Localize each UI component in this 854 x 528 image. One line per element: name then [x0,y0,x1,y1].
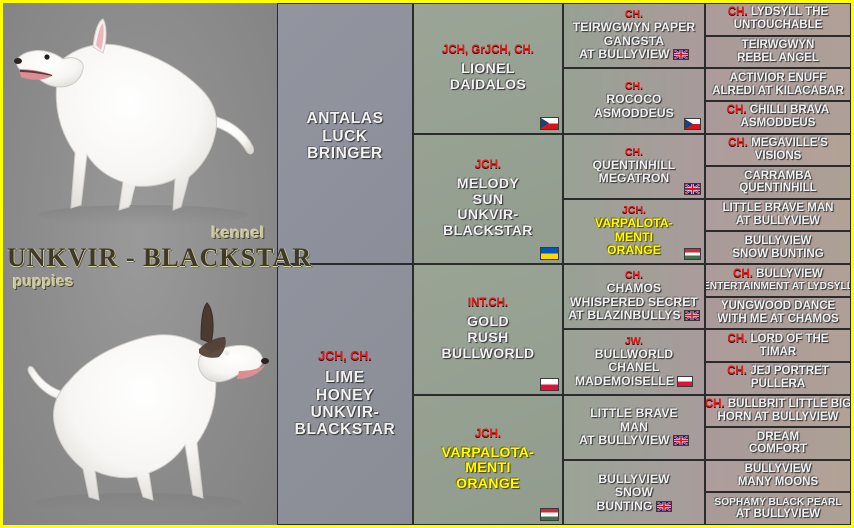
dog-name: LITTLE BRAVE MAN AT BULLYVIEW [723,202,834,228]
flag-gb-icon [684,183,701,195]
dog-name: VARPALOTA- MENTI ORANGE [442,445,535,492]
pedigree-cell-g4-6[interactable]: CARRAMBA QUENTINHILL [705,166,851,199]
flag-gb-icon [656,501,672,512]
dog-name: ANTALAS LUCK BRINGER [306,110,383,162]
pedigree-cell-g3-8[interactable]: BULLYVIEW SNOW BUNTING [563,460,705,525]
generation-2-column: JCH, GrJCH, CH. LIONEL DAIDALOS JCH. MEL… [413,3,563,525]
dog-name: CH. JEJ PORTRET PULLERA [727,365,829,391]
pedigree-cell-g4-9[interactable]: CH. BULLYVIEW ENTERTAINMENT AT LYDSYLL [705,264,851,297]
pedigree-cell-g3-1[interactable]: CH. TEIRWGWYN PAPER GANGSTA AT BULLYVIEW [563,3,705,68]
pedigree-cell-g3-5[interactable]: CH. CHAMOS WHISPERED SECRET AT BLAZINBUL… [563,264,705,329]
titles: INT.CH. [468,297,508,309]
dog-name: TEIRWGWYN PAPER GANGSTA AT BULLYVIEW [573,21,696,61]
pedigree-cell-g2-3[interactable]: INT.CH. GOLD RUSH BULLWORLD [413,264,563,395]
generation-4-column: CH. LYDSYLL THE UNTOUCHABLE TEIRWGWYN RE… [705,3,851,525]
titles: JW. [625,336,643,347]
flag-hu-icon [540,508,559,521]
dog-name: LIONEL DAIDALOS [450,61,526,92]
dog-name: VARPALOTA- MENTI ORANGE [595,217,673,257]
dog-name: CHAMOS WHISPERED SECRET AT BLAZINBULLYS [568,282,699,322]
flag-cz-icon [684,118,701,130]
flag-cz-icon [540,117,559,130]
titles: CH. [625,270,643,281]
titles: CH. [625,9,643,20]
dog-name: BULLYVIEW SNOW BUNTING [732,235,823,261]
kennel-branding: kennel UNKVIR - BLACKSTAR puppies [3,225,277,293]
pedigree-cell-g4-13[interactable]: CH. BULLBRIT LITTLE BIG HORN AT BULLYVIE… [705,395,851,428]
pedigree-cell-g4-15[interactable]: BULLYVIEW MANY MOONS [705,460,851,493]
pedigree-cell-g4-10[interactable]: YUNGWOOD DANCE WITH ME AT CHAMOS [705,297,851,330]
dog-name: LIME HONEY UNKVIR- BLACKSTAR [295,369,396,438]
pedigree-cell-g4-2[interactable]: TEIRWGWYN REBEL ANGEL [705,36,851,69]
titles: JCH, GrJCH, CH. [442,44,534,56]
pedigree-cell-g3-4[interactable]: JCH. VARPALOTA- MENTI ORANGE [563,199,705,264]
dog-name: BULLYVIEW MANY MOONS [738,463,818,489]
pedigree-cell-g4-8[interactable]: BULLYVIEW SNOW BUNTING [705,231,851,264]
titles: CH. [705,398,725,410]
flag-pl-icon [677,376,693,387]
titles: JCH, CH. [318,350,371,363]
pedigree-cell-g4-12[interactable]: CH. JEJ PORTRET PULLERA [705,362,851,395]
pedigree-cell-g4-16[interactable]: SOPHAMY BLACK PEARL AT BULLYVIEW [705,492,851,525]
pedigree-cell-g2-4[interactable]: JCH. VARPALOTA- MENTI ORANGE [413,395,563,526]
kennel-label: kennel [211,225,265,243]
pedigree-page: kennel UNKVIR - BLACKSTAR puppies [0,0,854,528]
generation-3-column: CH. TEIRWGWYN PAPER GANGSTA AT BULLYVIEW… [563,3,705,525]
dog-name: CH. MEGAVILLE'S VISIONS [728,137,828,163]
dog-name: CH. CHILLI BRAVA ASMODDEUS [727,104,829,130]
titles: CH. [728,6,748,18]
pedigree-chart: ANTALAS LUCK BRINGER JCH, CH. LIME HONEY… [277,3,851,525]
bull-terrier-standing-left-photo [3,7,277,237]
dog-name: SOPHAMY BLACK PEARL AT BULLYVIEW [714,497,841,521]
dog-name: CARRAMBA QUENTINHILL [739,170,816,196]
pedigree-cell-g3-3[interactable]: CH. QUENTINHILL MEGATRON [563,134,705,199]
puppies-label: puppies [13,273,74,290]
kennel-name: UNKVIR - BLACKSTAR [7,243,273,273]
dog-name: MELODY SUN UNKVIR- BLACKSTAR [443,176,533,239]
pedigree-cell-g4-7[interactable]: LITTLE BRAVE MAN AT BULLYVIEW [705,199,851,232]
flag-gb-icon [684,310,700,321]
dog-name: BULLWORLD CHANEL MADEMOISELLE [575,348,693,388]
flag-ua-icon [540,247,559,260]
titles: JCH. [622,205,646,216]
flag-hu-icon [684,248,701,260]
titles: CH. [625,147,643,158]
pedigree-cell-g1-dam[interactable]: JCH, CH. LIME HONEY UNKVIR- BLACKSTAR [277,264,413,525]
dog-name: LITTLE BRAVE MAN AT BULLYVIEW [579,407,688,447]
pedigree-cell-g4-5[interactable]: CH. MEGAVILLE'S VISIONS [705,134,851,167]
pedigree-cell-g3-7[interactable]: LITTLE BRAVE MAN AT BULLYVIEW [563,395,705,460]
flag-gb-icon [673,435,689,446]
titles: CH. [727,365,747,377]
pedigree-cell-g4-4[interactable]: CH. CHILLI BRAVA ASMODDEUS [705,101,851,134]
dog-name: YUNGWOOD DANCE WITH ME AT CHAMOS [717,300,838,326]
titles: CH. [728,333,748,345]
dog-name: CH. LYDSYLL THE UNTOUCHABLE [728,6,828,32]
pedigree-cell-g4-11[interactable]: CH. LORD OF THE TIMAR [705,329,851,362]
kennel-photo-panel: kennel UNKVIR - BLACKSTAR puppies [3,3,277,525]
dog-name: ACTIVIOR ENUFF ALREDI AT KILACABAR [712,72,844,98]
titles: CH. [733,268,753,280]
pedigree-cell-g1-sire[interactable]: ANTALAS LUCK BRINGER [277,3,413,264]
flag-pl-icon [540,378,559,391]
dog-name: TEIRWGWYN REBEL ANGEL [737,39,819,65]
pedigree-cell-g3-6[interactable]: JW. BULLWORLD CHANEL MADEMOISELLE [563,329,705,394]
titles: CH. [625,81,643,92]
titles: CH. [727,104,747,116]
dog-name: DREAM COMFORT [749,431,807,457]
flag-gb-icon [673,49,689,60]
bull-terrier-standing-right-photo [3,291,277,523]
titles: CH. [728,137,748,149]
pedigree-cell-g4-14[interactable]: DREAM COMFORT [705,427,851,460]
pedigree-cell-g2-1[interactable]: JCH, GrJCH, CH. LIONEL DAIDALOS [413,3,563,134]
pedigree-cell-g3-2[interactable]: CH. ROCOCO ASMODDEUS [563,68,705,133]
pedigree-cell-g4-3[interactable]: ACTIVIOR ENUFF ALREDI AT KILACABAR [705,68,851,101]
dog-name: CH. BULLYVIEW ENTERTAINMENT AT LYDSYLL [705,268,851,292]
pedigree-cell-g2-2[interactable]: JCH. MELODY SUN UNKVIR- BLACKSTAR [413,134,563,265]
titles: JCH. [475,159,501,171]
pedigree-cell-g4-1[interactable]: CH. LYDSYLL THE UNTOUCHABLE [705,3,851,36]
dog-name: ROCOCO ASMODDEUS [594,93,674,120]
titles: JCH. [475,428,501,440]
dog-name: CH. LORD OF THE TIMAR [728,333,829,359]
dog-name: QUENTINHILL MEGATRON [593,159,676,186]
dog-name: CH. BULLBRIT LITTLE BIG HORN AT BULLYVIE… [705,398,851,424]
dog-name: BULLYVIEW SNOW BUNTING [596,473,671,513]
dog-name: GOLD RUSH BULLWORLD [441,314,534,361]
